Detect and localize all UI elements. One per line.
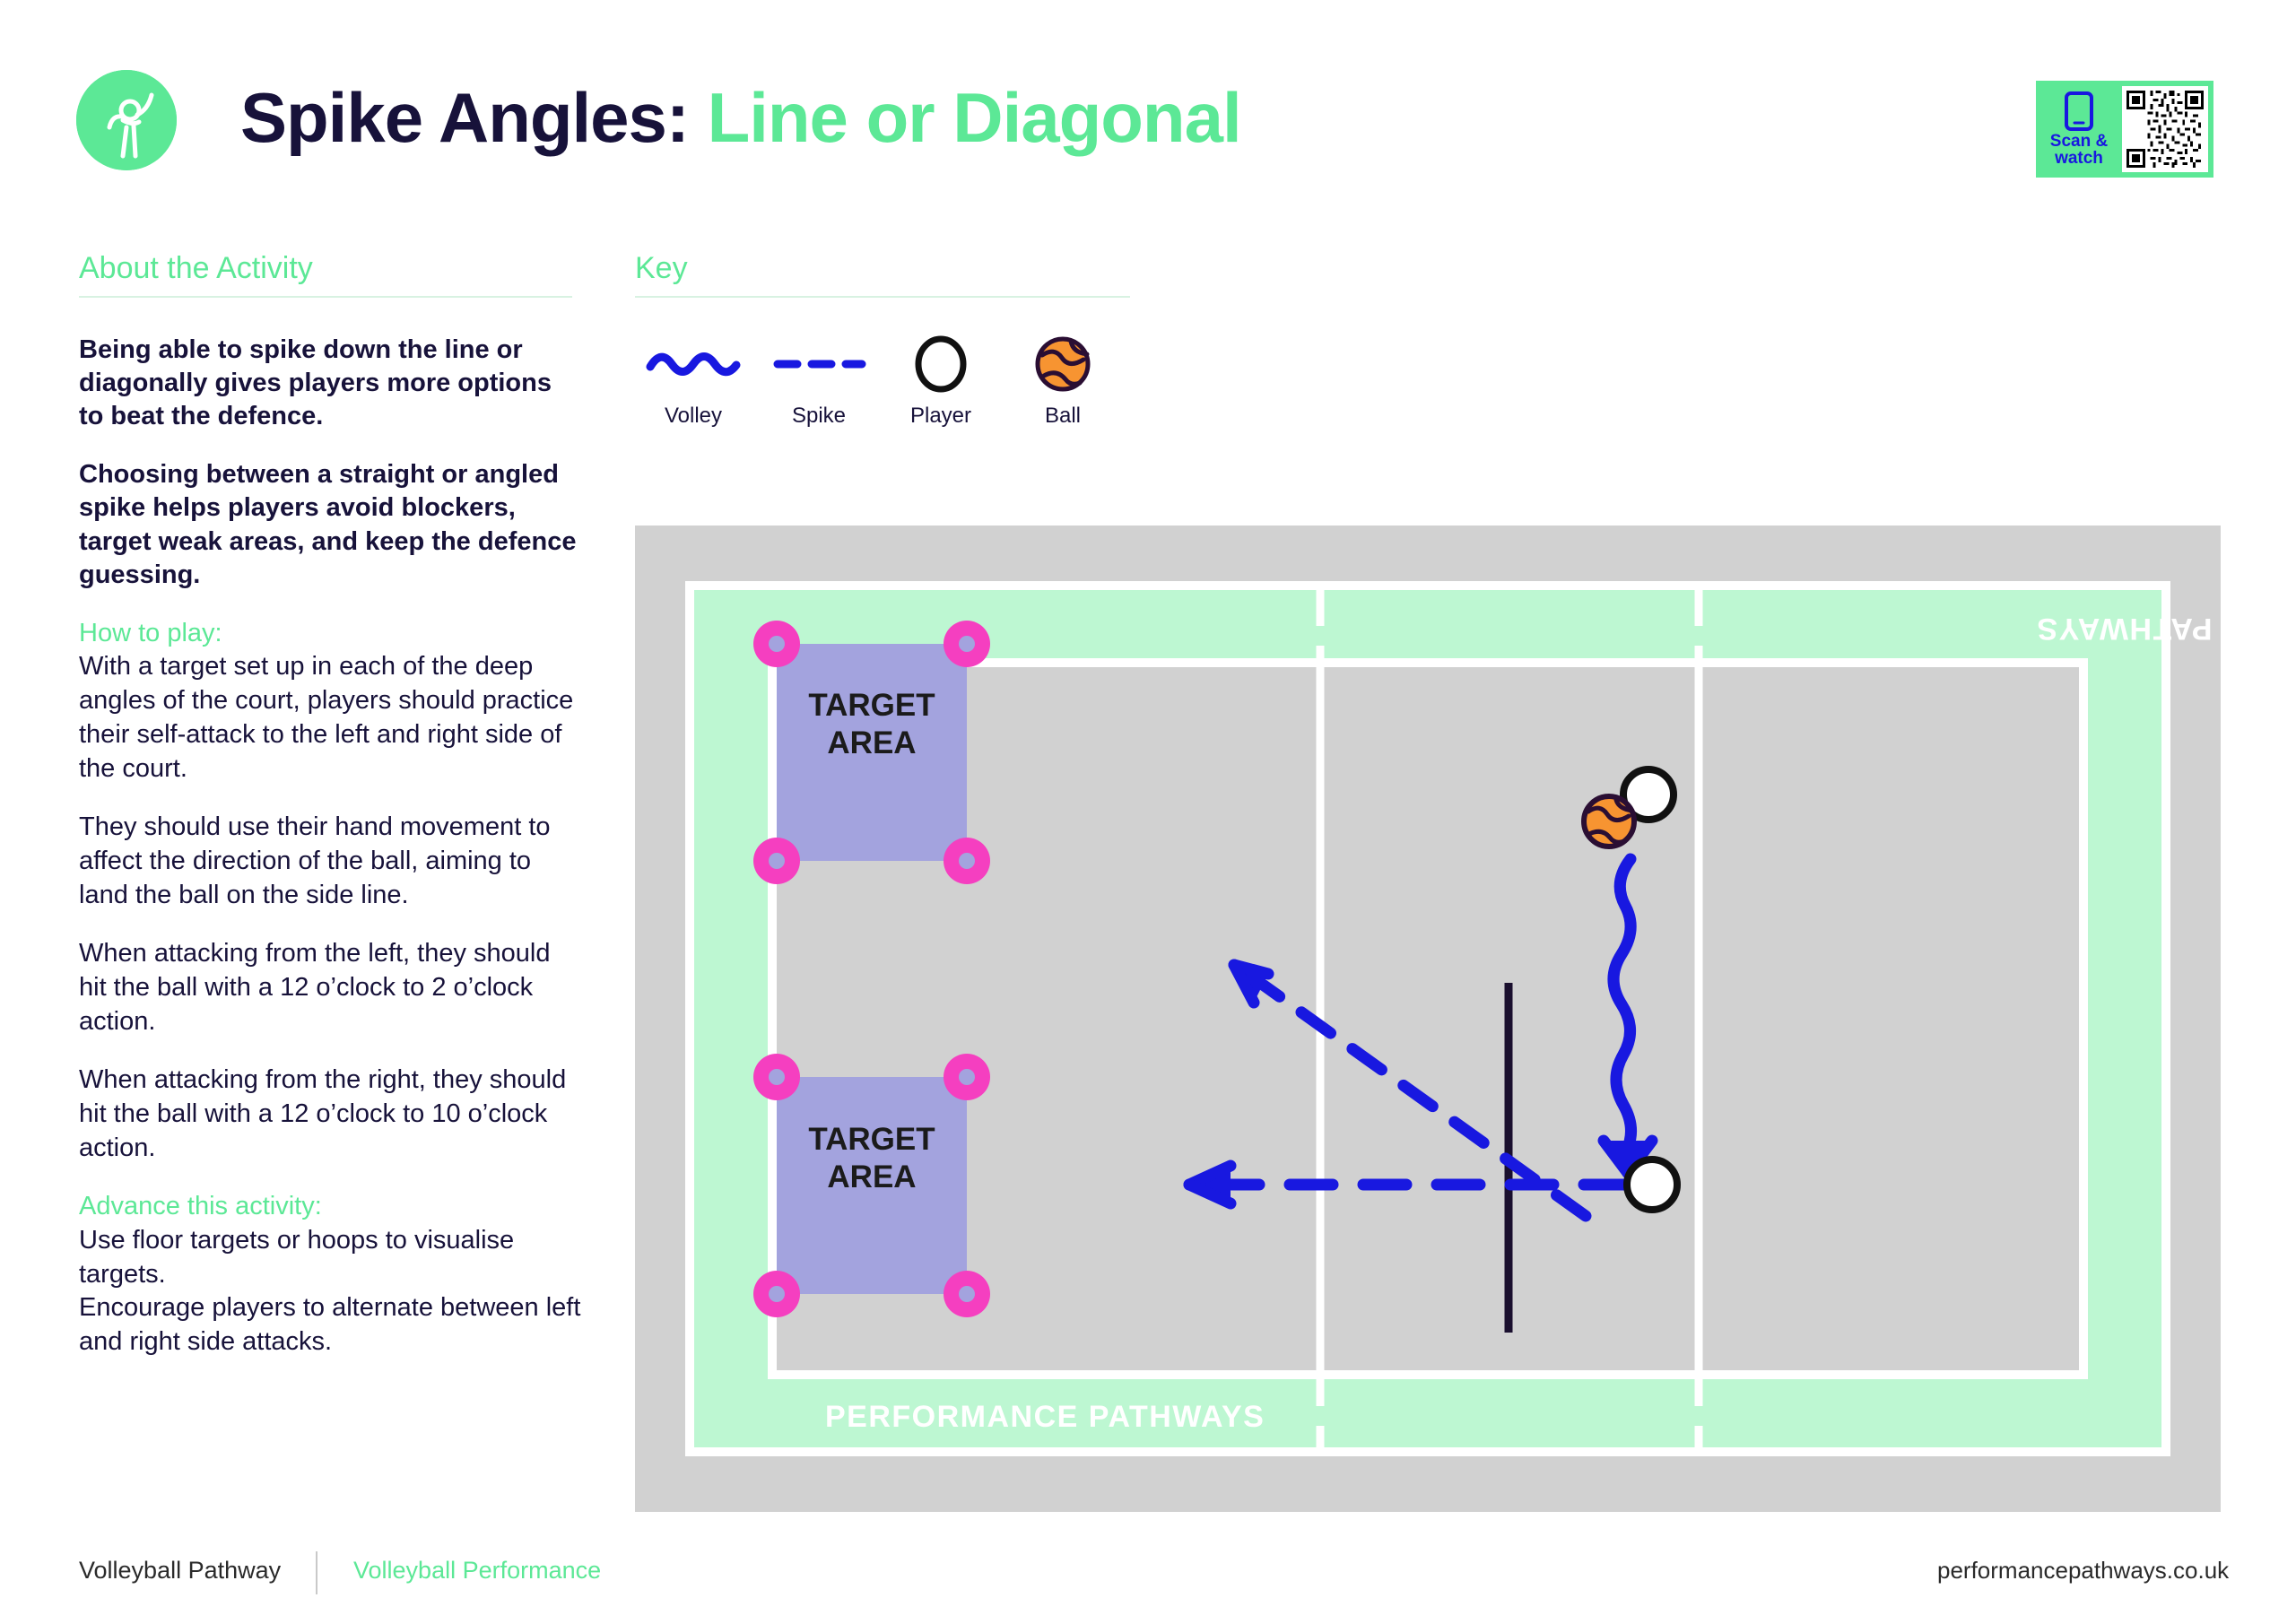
volleyball-icon: [1004, 323, 1121, 405]
key-item-ball: Ball: [1004, 323, 1121, 457]
about-intro-2: Choosing between a straight or angled sp…: [79, 458, 581, 591]
upper-target-label-line1: TARGET: [808, 688, 935, 723]
key-heading: Key: [635, 251, 688, 286]
about-heading: About the Activity: [79, 251, 313, 286]
footer-website-url[interactable]: performancepathways.co.uk: [1937, 1557, 2229, 1585]
scan-and-watch-badge[interactable]: Scan & watch: [2036, 81, 2213, 178]
key-item-spike: Spike: [761, 323, 877, 457]
lower-target-label-line2: AREA: [827, 1159, 916, 1194]
dashed-line-icon: [761, 323, 877, 405]
scan-line-1: Scan &: [2050, 133, 2108, 150]
footer-pathway-label: Volleyball Pathway: [79, 1557, 281, 1585]
footer-performance-label: Volleyball Performance: [353, 1557, 601, 1585]
activity-card: Spike Angles: Line or Diagonal Scan & wa…: [0, 0, 2296, 1624]
about-column: Being able to spike down the line or dia…: [79, 334, 581, 1359]
about-intro-1: Being able to spike down the line or dia…: [79, 334, 581, 433]
upper-target-area: TARGET AREA: [753, 621, 990, 884]
court-watermark-bottom: PERFORMANCE PATHWAYS: [825, 1400, 1265, 1434]
wavy-line-icon: [635, 323, 752, 405]
how-to-play-2: They should use their hand movement to a…: [79, 811, 581, 912]
key-item-volley: Volley: [635, 323, 752, 457]
scan-label-group: Scan & watch: [2036, 91, 2122, 168]
how-to-play-3: When attacking from the left, they shoul…: [79, 937, 581, 1038]
phone-icon: [2064, 91, 2094, 131]
key-label-volley: Volley: [665, 405, 722, 427]
court-playing-surface: [777, 667, 2079, 1370]
volleyball-on-court: [1584, 796, 1634, 847]
scan-text: Scan & watch: [2050, 133, 2108, 168]
key-label-ball: Ball: [1045, 405, 1081, 427]
qr-code-icon[interactable]: [2122, 86, 2208, 172]
player-figure-icon: [76, 70, 177, 170]
page-header: Spike Angles: Line or Diagonal Scan & wa…: [0, 0, 2296, 215]
how-to-play-label: How to play:: [79, 617, 581, 651]
page-footer: Volleyball Pathway Volleyball Performanc…: [0, 1551, 2296, 1623]
advance-2: Encourage players to alternate between l…: [79, 1291, 581, 1359]
about-divider: [79, 296, 572, 298]
player-bottom: [1627, 1159, 1677, 1210]
lower-target-label-line1: TARGET: [808, 1122, 935, 1157]
footer-divider: [316, 1551, 317, 1594]
key-label-spike: Spike: [792, 405, 846, 427]
key-label-player: Player: [910, 405, 971, 427]
player-circle-icon: [883, 323, 999, 405]
key-item-player: Player: [883, 323, 999, 457]
advance-1: Use floor targets or hoops to visualise …: [79, 1224, 581, 1291]
court-watermark-top: PERFORMANCE PATHWAYS: [2036, 612, 2221, 646]
lower-target-area: TARGET AREA: [753, 1054, 990, 1317]
key-divider: [635, 296, 1130, 298]
page-title-main: Spike Angles:: [240, 78, 689, 157]
advance-label: Advance this activity:: [79, 1190, 581, 1224]
court-diagram: PERFORMANCE PATHWAYS PERFORMANCE PATHWAY…: [635, 525, 2221, 1512]
page-title: Spike Angles: Line or Diagonal: [240, 83, 1241, 152]
how-to-play-1: With a target set up in each of the deep…: [79, 650, 581, 786]
how-to-play-4: When attacking from the right, they shou…: [79, 1064, 581, 1165]
scan-line-2: watch: [2050, 150, 2108, 167]
key-legend: Volley Spike Player: [635, 323, 1137, 457]
upper-target-label-line2: AREA: [827, 725, 916, 760]
page-title-accent: Line or Diagonal: [708, 78, 1241, 157]
